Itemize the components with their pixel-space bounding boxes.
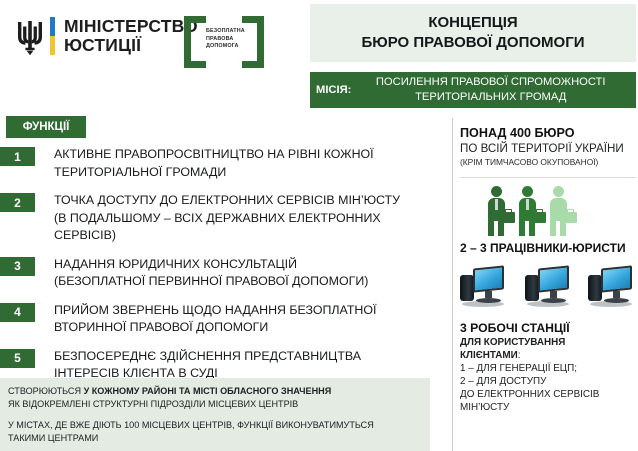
divider-line: [460, 177, 636, 178]
workstation-icons: [460, 265, 636, 317]
bureaus-heading: ПОНАД 400 БЮРО: [460, 126, 636, 141]
right-column: ПОНАД 400 БЮРО ПО ВСІЙ ТЕРИТОРІЇ УКРАЇНИ…: [460, 126, 636, 414]
item-line-1: ПРИЙОМ ЗВЕРНЕНЬ ЩОДО НАДАННЯ БЕЗОПЛАТНОЇ: [54, 303, 376, 317]
staff-icons: [482, 186, 636, 238]
title-banner: КОНЦЕПЦІЯ БЮРО ПРАВОВОЇ ДОПОМОГИ: [310, 4, 636, 62]
item-text: ТОЧКА ДОСТУПУ ДО ЕЛЕКТРОННИХ СЕРВІСІВ МІ…: [54, 192, 445, 245]
item-number: 3: [0, 257, 35, 276]
column-divider: [452, 118, 453, 451]
footer-paragraph-1: СТВОРЮЮТЬСЯ У КОЖНОМУ РАЙОНІ ТА МІСТІ ОБ…: [8, 385, 420, 410]
item-number: 5: [0, 349, 35, 368]
ws-line-2: КЛІЄНТАМИ: [460, 350, 518, 361]
footer-p2-line-2: ТАКИМИ ЦЕНТРАМИ: [8, 433, 98, 443]
ws-item-3: ДО ЕЛЕКТРОННИХ СЕРВІСІВ: [460, 389, 599, 400]
legal-aid-line-3: ДОПОМОГА: [206, 43, 244, 51]
workstations-details: ДЛЯ КОРИСТУВАННЯ КЛІЄНТАМИ: 1 – ДЛЯ ГЕНЕ…: [460, 336, 636, 414]
list-item: 1 АКТИВНЕ ПРАВОПРОСВІТНИЦТВО НА РІВНІ КО…: [0, 146, 445, 181]
legal-aid-logo-text: БЕЗОПЛАТНА ПРАВОВА ДОПОМОГА: [206, 28, 244, 51]
workstations-label: 3 РОБОЧІ СТАНЦІЇ: [460, 321, 636, 335]
bureaus-subtitle: ПО ВСІЙ ТЕРИТОРІЇ УКРАЇНИ: [460, 142, 636, 156]
computer-icon: [525, 265, 571, 313]
footer-p1-bold: У КОЖНОМУ РАЙОНІ ТА МІСТІ ОБЛАСНОГО ЗНАЧ…: [84, 386, 332, 396]
item-text: НАДАННЯ ЮРИДИЧНИХ КОНСУЛЬТАЦІЙ (БЕЗОПЛАТ…: [54, 256, 368, 291]
item-line-1: НАДАННЯ ЮРИДИЧНИХ КОНСУЛЬТАЦІЙ: [54, 257, 297, 271]
ws-item-4: МІН’ЮСТУ: [460, 402, 509, 413]
title-line-1: КОНЦЕПЦІЯ: [428, 13, 517, 33]
item-text: АКТИВНЕ ПРАВОПРОСВІТНИЦТВО НА РІВНІ КОЖН…: [54, 146, 374, 181]
bureaus-note: (КРІМ ТИМЧАСОВО ОКУПОВАНОЇ): [460, 157, 636, 168]
ukraine-flag-bar: [50, 17, 55, 55]
footer-p2-line-1: У МІСТАХ, ДЕ ВЖЕ ДІЮТЬ 100 МІСЦЕВИХ ЦЕНТ…: [8, 420, 374, 430]
list-item: 4 ПРИЙОМ ЗВЕРНЕНЬ ЩОДО НАДАННЯ БЕЗОПЛАТН…: [0, 302, 445, 337]
footer-p1-pre: СТВОРЮЮТЬСЯ: [8, 386, 84, 396]
legal-aid-line-2: ПРАВОВА: [206, 36, 244, 44]
list-item: 2 ТОЧКА ДОСТУПУ ДО ЕЛЕКТРОННИХ СЕРВІСІВ …: [0, 192, 445, 245]
title-line-2: БЮРО ПРАВОВОЇ ДОПОМОГИ: [361, 33, 584, 53]
ws-line-1: ДЛЯ КОРИСТУВАННЯ: [460, 337, 565, 348]
staff-label: 2 – 3 ПРАЦІВНИКИ-ЮРИСТИ: [460, 241, 636, 255]
item-number: 1: [0, 147, 35, 166]
slide-root: МІНІСТЕРСТВО ЮСТИЦІЇ БЕЗОПЛАТНА ПРАВОВА …: [0, 0, 638, 451]
computer-icon: [460, 265, 506, 313]
item-line-1: ТОЧКА ДОСТУПУ ДО ЕЛЕКТРОННИХ СЕРВІСІВ МІ…: [54, 193, 400, 207]
ws-item-1: 1 – ДЛЯ ГЕНЕРАЦІЇ ЕЦП;: [460, 363, 577, 374]
item-number: 2: [0, 193, 35, 212]
ws-colon: :: [518, 350, 521, 361]
item-number: 4: [0, 303, 35, 322]
item-line-1: БЕЗПОСЕРЕДНЄ ЗДІЙСНЕННЯ ПРЕДСТАВНИЦТВА: [54, 349, 361, 363]
item-line-1: АКТИВНЕ ПРАВОПРОСВІТНИЦТВО НА РІВНІ КОЖН…: [54, 147, 374, 161]
footer-note: СТВОРЮЮТЬСЯ У КОЖНОМУ РАЙОНІ ТА МІСТІ ОБ…: [0, 378, 430, 451]
item-line-2: ТЕРИТОРІАЛЬНОЇ ГРОМАДИ: [54, 164, 374, 182]
bracket-right-icon: [242, 16, 264, 68]
footer-p1-line-2: ЯК ВІДОКРЕМЛЕНІ СТРУКТУРНІ ПІДРОЗДІЛИ МІ…: [8, 399, 298, 409]
item-line-2: (В ПОДАЛЬШОМУ – ВСІХ ДЕРЖАВНИХ ЕЛЕКТРОНН…: [54, 210, 445, 245]
legal-aid-line-1: БЕЗОПЛАТНА: [206, 28, 244, 36]
ministry-logo: МІНІСТЕРСТВО ЮСТИЦІЇ: [14, 16, 198, 56]
item-text: ПРИЙОМ ЗВЕРНЕНЬ ЩОДО НАДАННЯ БЕЗОПЛАТНОЇ…: [54, 302, 376, 337]
tryzub-icon: [14, 16, 46, 56]
mission-label: МІСІЯ:: [316, 83, 351, 98]
item-line-2: (БЕЗОПЛАТНОЇ ПЕРВИННОЇ ПРАВОВОЇ ДОПОМОГИ…: [54, 273, 368, 291]
ws-item-2: 2 – ДЛЯ ДОСТУПУ: [460, 376, 546, 387]
functions-badge: ФУНКЦІЇ: [6, 116, 86, 138]
ministry-line-1: МІНІСТЕРСТВО: [64, 17, 198, 36]
footer-paragraph-2: У МІСТАХ, ДЕ ВЖЕ ДІЮТЬ 100 МІСЦЕВИХ ЦЕНТ…: [8, 419, 420, 444]
mission-text: ПОСИЛЕННЯ ПРАВОВОЇ СПРОМОЖНОСТІ ТЕРИТОРІ…: [351, 75, 630, 105]
item-line-2: ВТОРИННОЇ ПРАВОВОЇ ДОПОМОГИ: [54, 319, 376, 337]
functions-list: 1 АКТИВНЕ ПРАВОПРОСВІТНИЦТВО НА РІВНІ КО…: [0, 146, 445, 394]
ministry-line-2: ЮСТИЦІЇ: [64, 36, 198, 55]
bracket-left-icon: [184, 16, 206, 68]
legal-aid-logo: БЕЗОПЛАТНА ПРАВОВА ДОПОМОГА: [184, 16, 264, 68]
ministry-name: МІНІСТЕРСТВО ЮСТИЦІЇ: [64, 17, 198, 55]
computer-icon: [588, 265, 634, 313]
list-item: 3 НАДАННЯ ЮРИДИЧНИХ КОНСУЛЬТАЦІЙ (БЕЗОПЛ…: [0, 256, 445, 291]
mission-bar: МІСІЯ: ПОСИЛЕННЯ ПРАВОВОЇ СПРОМОЖНОСТІ Т…: [310, 72, 636, 108]
